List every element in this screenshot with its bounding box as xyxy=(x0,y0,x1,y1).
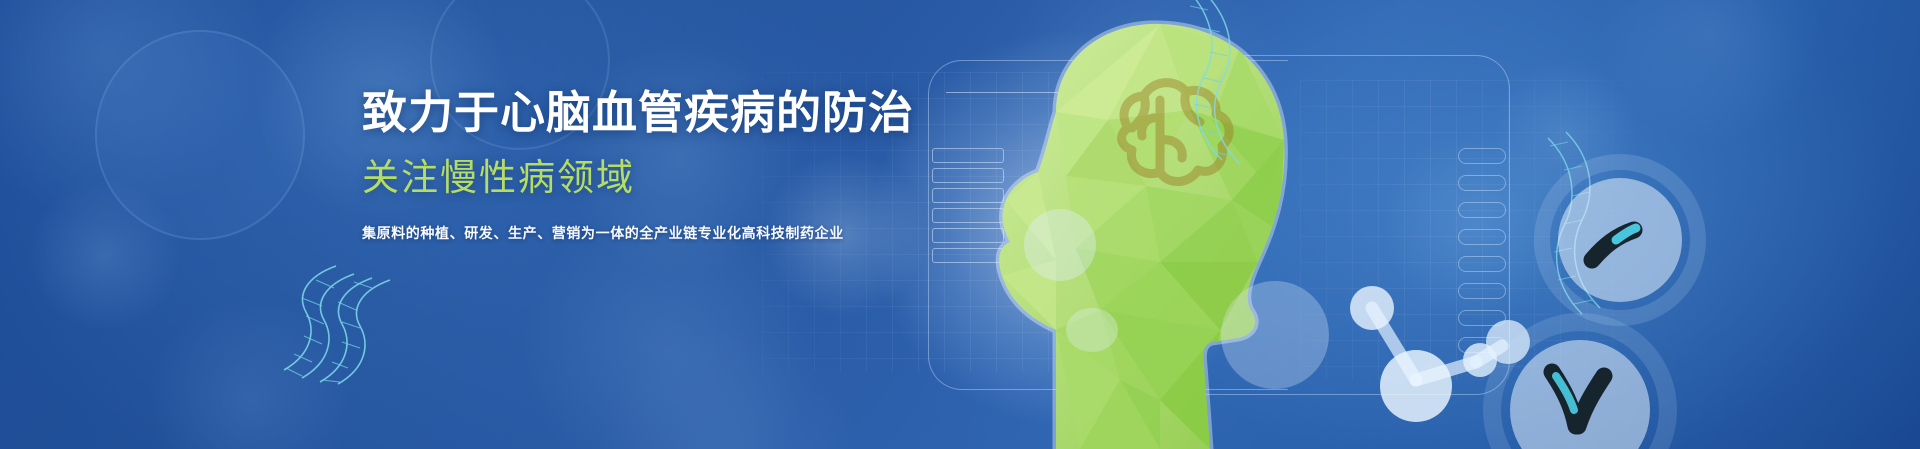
brain-icon xyxy=(1122,83,1230,182)
hud-bar xyxy=(1458,148,1506,164)
hud-bar xyxy=(1458,202,1506,218)
bacterium-icon xyxy=(1592,228,1636,260)
headline-part-accent: 心脑血管疾病 xyxy=(500,87,776,138)
banner-copy: 致力于心脑血管疾病的防治 关注慢性病领域 集原料的种植、研发、生产、营销为一体的… xyxy=(362,88,1122,243)
bokeh-circle xyxy=(1380,130,1570,320)
dna-rungs xyxy=(1550,142,1592,304)
bokeh-circle xyxy=(1600,0,1820,140)
bacterium-icon xyxy=(1552,372,1604,426)
hud-bar xyxy=(1458,310,1506,326)
hud-grid-right xyxy=(1300,80,1630,380)
molecule-node xyxy=(1380,350,1452,422)
hud-bar xyxy=(1458,337,1506,353)
bokeh-circle xyxy=(95,30,305,240)
bokeh-circle xyxy=(30,180,180,330)
bokeh-circle xyxy=(150,300,350,449)
hud-bar xyxy=(1458,283,1506,299)
bokeh-circle xyxy=(1490,60,1640,210)
dna-rungs xyxy=(1190,6,1232,156)
cell-body xyxy=(1221,281,1329,389)
banner-headline: 致力于心脑血管疾病的防治 xyxy=(362,88,1122,138)
banner-tagline: 集原料的种植、研发、生产、营销为一体的全产业链专业化高科技制药企业 xyxy=(362,223,1122,243)
cell-body xyxy=(1558,178,1682,302)
hud-bar xyxy=(1458,175,1506,191)
hud-bar xyxy=(1458,229,1506,245)
dna-strand xyxy=(1548,132,1600,314)
hero-banner: 致力于心脑血管疾病的防治 关注慢性病领域 集原料的种植、研发、生产、营销为一体的… xyxy=(0,0,1920,449)
headline-part-tail: 的防治 xyxy=(776,87,914,138)
dna-strand xyxy=(1188,0,1240,164)
bokeh-circle xyxy=(600,330,860,449)
hud-bar xyxy=(932,248,1004,263)
cell-body xyxy=(1510,340,1650,449)
banner-subline: 关注慢性病领域 xyxy=(362,147,1122,201)
bokeh-circle xyxy=(0,0,270,220)
molecule-node xyxy=(1486,320,1530,364)
hud-bar xyxy=(1458,256,1506,272)
molecule-node xyxy=(1350,286,1394,330)
hud-panel-right xyxy=(1190,55,1510,395)
dna-strand xyxy=(284,266,390,384)
headline-part-lead: 致力于 xyxy=(362,87,500,138)
molecule-node xyxy=(1463,343,1497,377)
dna-rungs xyxy=(286,280,372,382)
